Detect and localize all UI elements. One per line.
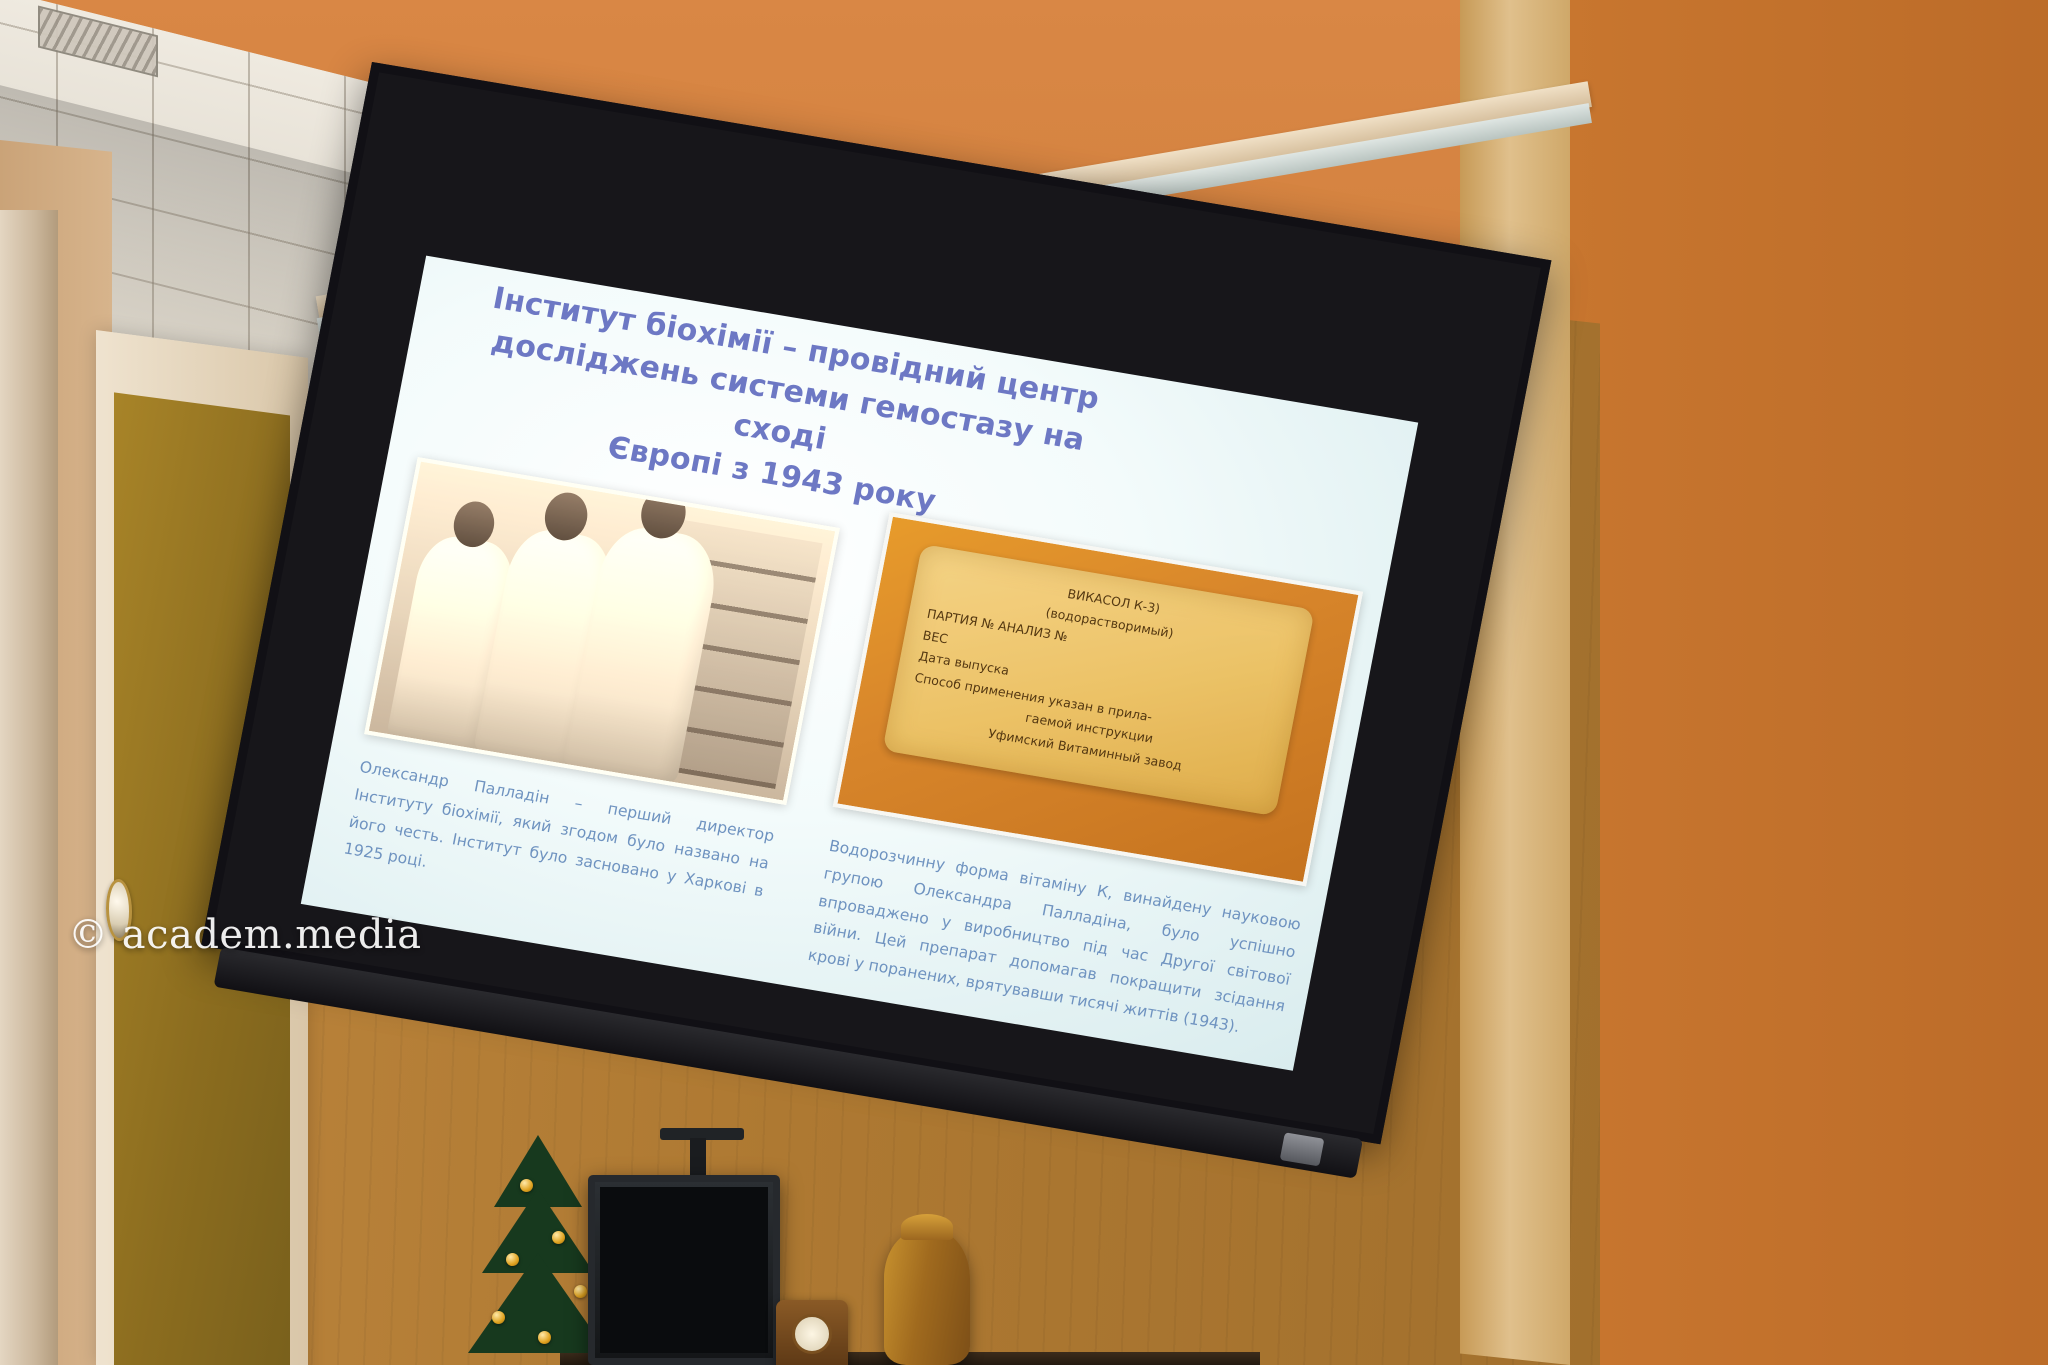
tree-ornament (520, 1179, 533, 1192)
tree-ornament (574, 1285, 587, 1298)
tree-ornament (492, 1311, 505, 1324)
tv-monitor[interactable] (588, 1175, 780, 1365)
vikasol-label-text: ВИКАСОЛ К-3) (водорастворимый) ПАРТИЯ № … (882, 544, 1314, 816)
ceramic-vase (884, 1230, 970, 1365)
tree-ornament (538, 1331, 551, 1344)
mantel-clock (776, 1300, 848, 1365)
archive-photo-laboratory (364, 457, 840, 805)
tree-ornament (506, 1253, 519, 1266)
monitor-screen (600, 1187, 768, 1353)
clock-face (792, 1314, 832, 1354)
photograph-scene: ІБХ 1925 2015 (0, 0, 2048, 1365)
screen-end-cap (1280, 1132, 1325, 1166)
wall-right-section (1560, 0, 2048, 1365)
door-knob[interactable] (106, 877, 132, 942)
tree-ornament (552, 1231, 565, 1244)
wall-corner-column (0, 210, 58, 1365)
wood-panel-edge (1460, 0, 1570, 1365)
archive-photo-vikasol-label: ВИКАСОЛ К-3) (водорастворимый) ПАРТИЯ № … (833, 512, 1363, 886)
